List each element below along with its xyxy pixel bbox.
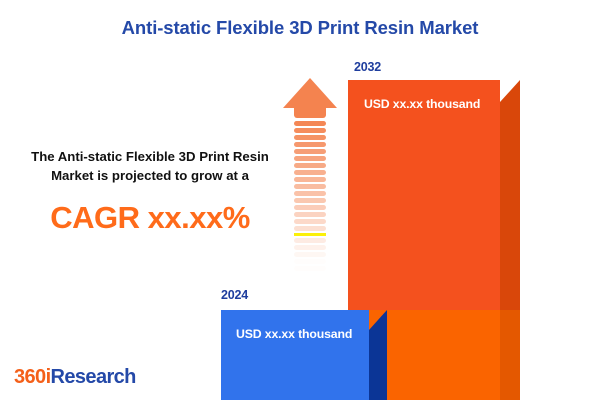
bar-2024-bevel	[369, 310, 387, 330]
arrow-neck	[294, 108, 326, 118]
arrow-stripe	[294, 238, 326, 243]
arrow-stripe	[294, 245, 326, 250]
bar-2032-side-upper	[500, 102, 520, 310]
arrow-stripe	[294, 135, 326, 140]
arrow-stripe	[294, 198, 326, 203]
arrow-stripe	[294, 252, 326, 257]
arrow-stripe	[294, 259, 326, 264]
arrow-stripe	[294, 226, 326, 231]
arrow-stripe	[294, 266, 326, 271]
brand-logo-prefix: 360i	[14, 366, 51, 388]
bar-label-value-2032: USD xx.xx thousand	[364, 97, 480, 111]
arrow-up-icon	[283, 78, 337, 108]
arrow-stripe	[294, 163, 326, 168]
arrow-stripe	[294, 191, 326, 196]
bar-2032-bevel	[500, 80, 520, 102]
arrow-stripe	[294, 149, 326, 154]
arrow-stripe	[294, 121, 326, 126]
arrow-stripe	[294, 212, 326, 217]
arrow-stripes	[294, 121, 326, 293]
page-title: Anti-static Flexible 3D Print Resin Mark…	[0, 17, 600, 39]
arrow-stripe	[294, 219, 326, 224]
brand-logo: 360iResearch	[14, 366, 136, 389]
arrow-stripe	[294, 128, 326, 133]
brand-logo-suffix: Research	[51, 366, 136, 388]
growth-arrow	[283, 78, 337, 293]
bar-2024-side	[369, 330, 387, 400]
arrow-stripe	[294, 205, 326, 210]
bar-2032-side-lower	[500, 310, 520, 400]
arrow-stripe	[294, 233, 326, 236]
bar-2032-front-upper	[348, 80, 500, 310]
bar-label-value-2024: USD xx.xx thousand	[236, 327, 352, 341]
cagr-value: CAGR xx.xx%	[14, 200, 286, 236]
arrow-stripe	[294, 142, 326, 147]
arrow-stripe	[294, 184, 326, 189]
bar-label-year-2032: 2032	[354, 60, 381, 74]
bar-label-year-2024: 2024	[221, 288, 248, 302]
infographic-canvas: Anti-static Flexible 3D Print Resin Mark…	[0, 0, 600, 400]
bar-2024-front	[221, 310, 369, 400]
growth-statement: The Anti-static Flexible 3D Print Resin …	[14, 148, 286, 185]
arrow-stripe	[294, 156, 326, 161]
arrow-stripe	[294, 177, 326, 182]
arrow-stripe	[294, 170, 326, 175]
